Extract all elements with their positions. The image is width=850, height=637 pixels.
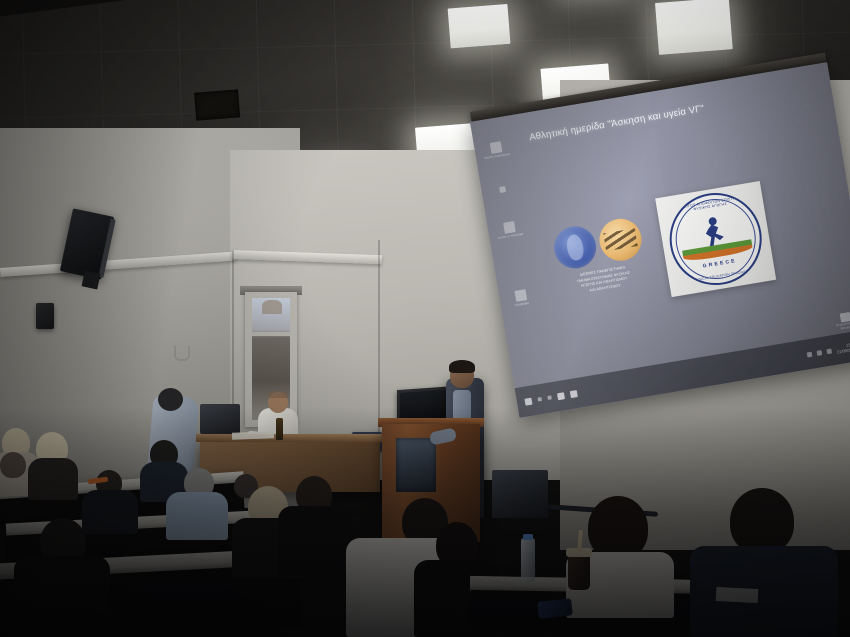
audience-torso — [690, 546, 838, 637]
powerpoint-icon[interactable] — [570, 390, 578, 398]
bottle-on-table — [276, 418, 283, 440]
audience-head — [588, 496, 648, 560]
network-icon[interactable] — [816, 350, 822, 356]
projection-screen[interactable]: Αθλητική ημερίδα "Άσκηση και υγεία VΓ" Κ… — [470, 62, 850, 418]
audience-head — [0, 452, 26, 478]
papers-front-desk — [716, 587, 759, 603]
this-pc-icon[interactable]: Αυτός ο Υπολογιστής — [495, 220, 523, 241]
standing-panelist-head — [158, 388, 183, 411]
wall-hook — [174, 346, 190, 361]
volume-icon[interactable] — [826, 348, 832, 354]
start-button-icon[interactable] — [524, 397, 532, 405]
search-icon[interactable] — [537, 397, 542, 402]
smartphone[interactable] — [537, 598, 573, 618]
taskbar-app-icons[interactable] — [524, 390, 577, 406]
folder-glyph — [499, 186, 506, 193]
athena-seal-icon — [551, 223, 599, 271]
desktop-icon-label: Αυτός ο Υπολογιστής — [497, 233, 523, 241]
wall-speaker — [36, 303, 54, 329]
water-bottle — [521, 538, 535, 582]
audience-torso — [28, 458, 78, 500]
floor-equipment-case — [492, 470, 548, 518]
iced-coffee-cup — [568, 552, 590, 590]
av-equipment-box — [200, 404, 240, 434]
ceiling-light-panel — [655, 0, 733, 55]
windows-activation-watermark: Ενεργοποίηση Windows — [834, 311, 850, 332]
documents-glyph — [514, 289, 527, 302]
ceiling-vent — [194, 89, 240, 120]
association-emblem-card: ΣΥΛΛΟΓΟΣ ΑΠΟΦΟΙΤΩΝ ΕΠΙΣΤΗΜΗΣ ΦΥΣΙΚΗΣ ΑΓΩ… — [655, 181, 776, 297]
building-outside — [262, 300, 282, 314]
ceiling-light-panel — [448, 4, 511, 49]
wall-corner-seam — [378, 240, 380, 440]
desktop-icon-label — [491, 192, 517, 196]
audience-torso — [14, 556, 110, 637]
association-emblem: ΣΥΛΛΟΓΟΣ ΑΠΟΦΟΙΤΩΝ ΕΠΙΣΤΗΜΗΣ ΦΥΣΙΚΗΣ ΑΓΩ… — [663, 186, 769, 292]
recycle-bin-glyph — [489, 141, 502, 154]
window-mullion — [252, 332, 290, 336]
desktop-icon-label: Έγγραφα — [509, 301, 535, 309]
lectern-front-panel — [396, 438, 436, 492]
runners-seal-icon — [596, 216, 644, 264]
audience-torso — [278, 506, 348, 576]
monitor-wall-mount — [82, 271, 101, 290]
papers-on-table — [232, 431, 274, 439]
audience-head — [730, 488, 794, 554]
lecture-hall-photo: Αθλητική ημερίδα "Άσκηση και υγεία VΓ" Κ… — [0, 0, 850, 637]
folder-icon[interactable] — [489, 184, 516, 196]
audience-torso — [166, 492, 228, 540]
recycle-bin-icon[interactable]: Κάδος Ανακύκλωσης — [482, 140, 510, 161]
audience-torso — [82, 490, 138, 534]
bottle-cap-icon — [523, 534, 533, 540]
presenter-hair — [449, 360, 475, 373]
documents-icon[interactable]: Έγγραφα — [507, 288, 535, 309]
panel-table-top — [196, 434, 386, 442]
taskbar-clock[interactable]: 13:42 21/09/2023 — [836, 341, 850, 355]
desktop-icon-label: Κάδος Ανακύκλωσης — [484, 153, 510, 161]
seated-panelist-hair — [268, 391, 288, 398]
explorer-icon[interactable] — [557, 392, 565, 400]
tray-chevron-icon[interactable] — [807, 351, 813, 357]
this-pc-glyph — [503, 221, 516, 234]
taskbar-system-tray[interactable]: 13:42 21/09/2023 — [806, 340, 850, 360]
task-view-icon[interactable] — [547, 395, 552, 400]
